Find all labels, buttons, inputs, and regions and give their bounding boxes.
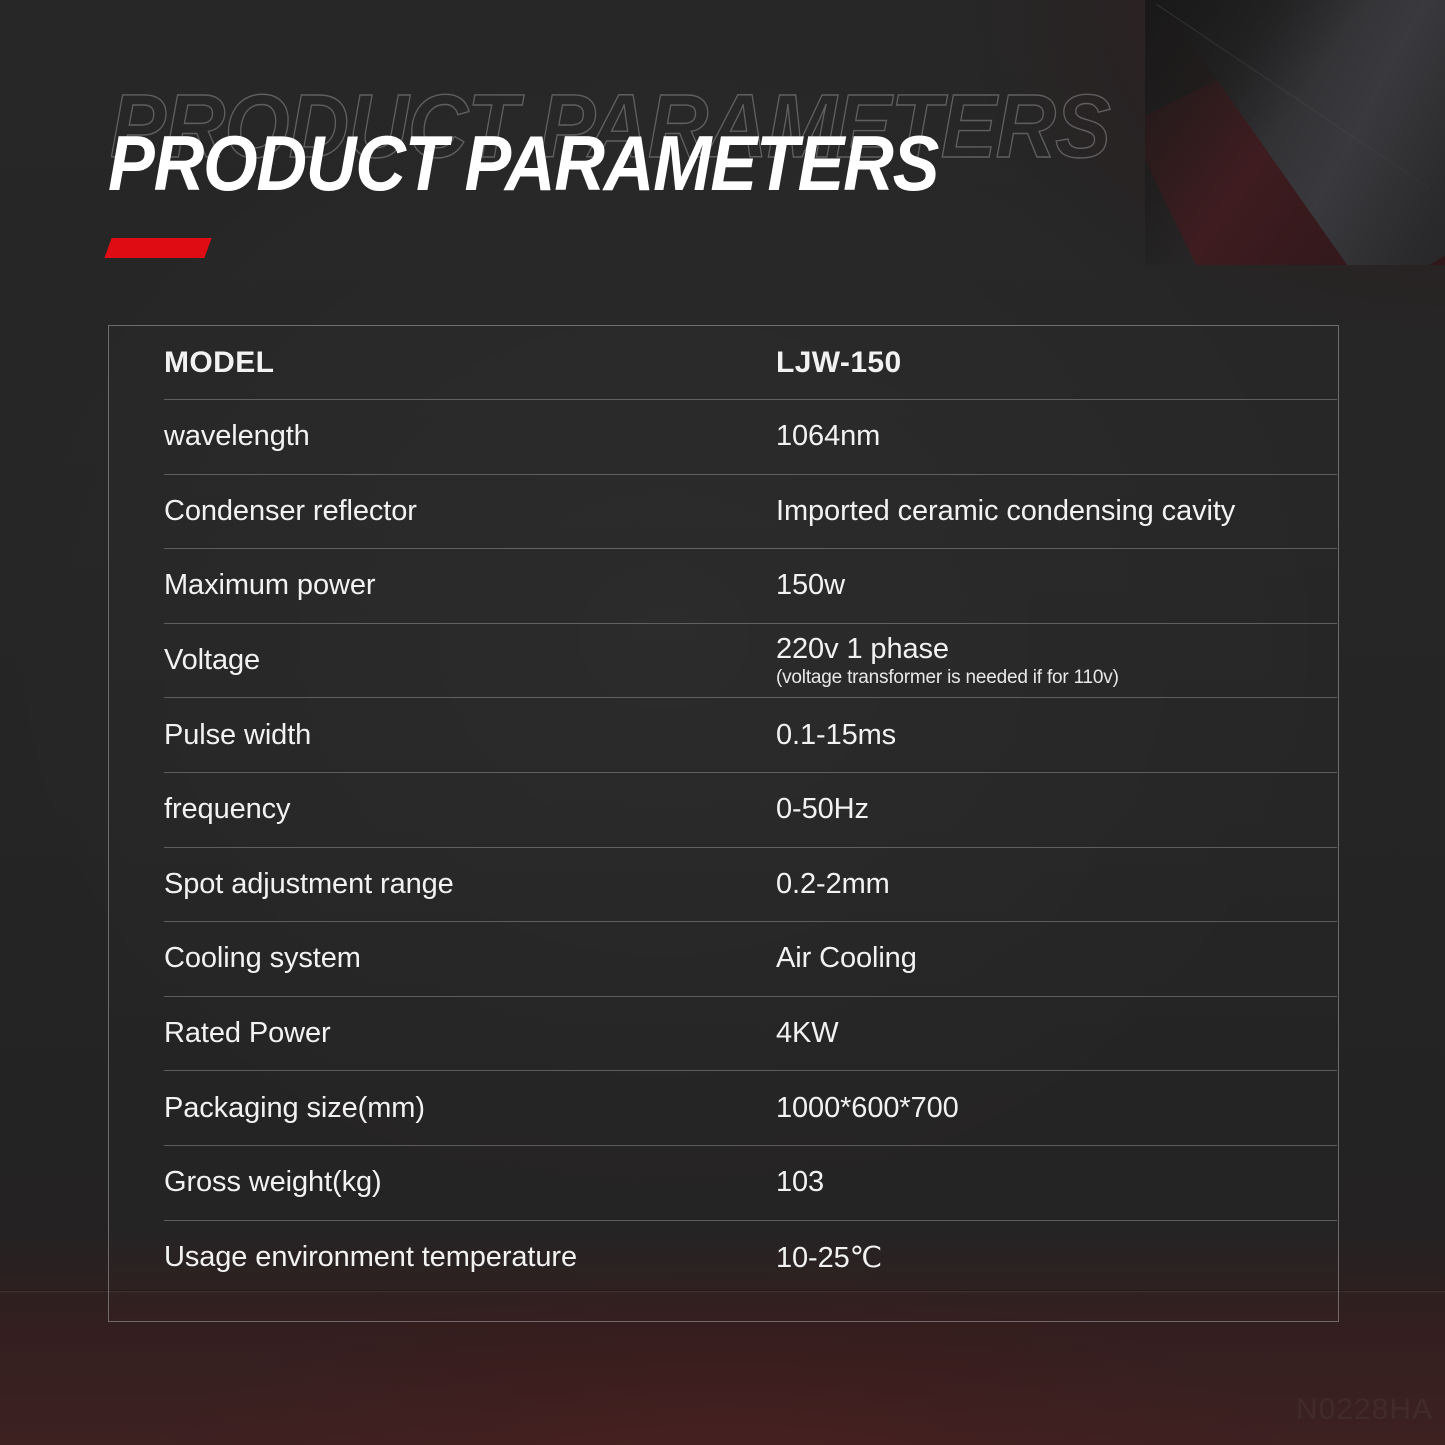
spec-value: Air Cooling: [776, 942, 1337, 975]
spec-value: 1064nm: [776, 420, 1337, 453]
spec-key: Usage environment temperature: [164, 1241, 776, 1274]
fold-shadow: [1145, 0, 1445, 265]
table-row: Maximum power 150w: [164, 549, 1337, 624]
table-row: Condenser reflector Imported ceramic con…: [164, 475, 1337, 550]
spec-value: 150w: [776, 569, 1337, 602]
watermark-text: N0228HA: [1296, 1393, 1433, 1427]
spec-value: Imported ceramic condensing cavity: [776, 495, 1337, 528]
spec-key: Spot adjustment range: [164, 868, 776, 901]
spec-value: 0-50Hz: [776, 793, 1337, 826]
spec-key: wavelength: [164, 420, 776, 453]
product-parameters-page: PRODUCT PARAMETERS PRODUCT PARAMETERS MO…: [0, 0, 1445, 1445]
table-row: wavelength 1064nm: [164, 400, 1337, 475]
table-row: Voltage 220v 1 phase (voltage transforme…: [164, 624, 1337, 699]
spec-key: Voltage: [164, 644, 776, 677]
spec-key: frequency: [164, 793, 776, 826]
page-fold-decoration: [1145, 0, 1445, 265]
table-row: frequency 0-50Hz: [164, 773, 1337, 848]
spec-key: Packaging size(mm): [164, 1092, 776, 1125]
table-row: Packaging size(mm) 1000*600*700: [164, 1071, 1337, 1146]
spec-value-primary: 220v 1 phase: [776, 633, 1337, 665]
table-row: Spot adjustment range 0.2-2mm: [164, 848, 1337, 923]
table-row: Pulse width 0.1-15ms: [164, 698, 1337, 773]
table-header-row: MODEL LJW-150: [164, 326, 1337, 400]
spec-key: Gross weight(kg): [164, 1166, 776, 1199]
spec-value: 220v 1 phase (voltage transformer is nee…: [776, 633, 1337, 688]
spec-value: 0.1-15ms: [776, 719, 1337, 752]
spec-value: 10-25℃: [776, 1240, 1337, 1275]
column-header-model: MODEL: [164, 346, 776, 380]
spec-key: Cooling system: [164, 942, 776, 975]
spec-key: Pulse width: [164, 719, 776, 752]
spec-value-note: (voltage transformer is needed if for 11…: [776, 667, 1337, 688]
table-row: Cooling system Air Cooling: [164, 922, 1337, 997]
spec-key: Rated Power: [164, 1017, 776, 1050]
red-accent-bar: [104, 238, 211, 258]
column-header-value: LJW-150: [776, 346, 1337, 380]
table-row: Gross weight(kg) 103: [164, 1146, 1337, 1221]
spec-key: Condenser reflector: [164, 495, 776, 528]
table-row: Rated Power 4KW: [164, 997, 1337, 1072]
spec-table: MODEL LJW-150 wavelength 1064nm Condense…: [164, 326, 1337, 1321]
spec-value: 103: [776, 1166, 1337, 1199]
spec-key: Maximum power: [164, 569, 776, 602]
page-title-group: PRODUCT PARAMETERS PRODUCT PARAMETERS: [108, 88, 1168, 218]
spec-value: 4KW: [776, 1017, 1337, 1050]
page-title: PRODUCT PARAMETERS: [108, 124, 938, 202]
table-row: Usage environment temperature 10-25℃: [164, 1221, 1337, 1296]
spec-table-panel: MODEL LJW-150 wavelength 1064nm Condense…: [108, 325, 1339, 1322]
spec-value: 1000*600*700: [776, 1092, 1337, 1125]
spec-value: 0.2-2mm: [776, 868, 1337, 901]
